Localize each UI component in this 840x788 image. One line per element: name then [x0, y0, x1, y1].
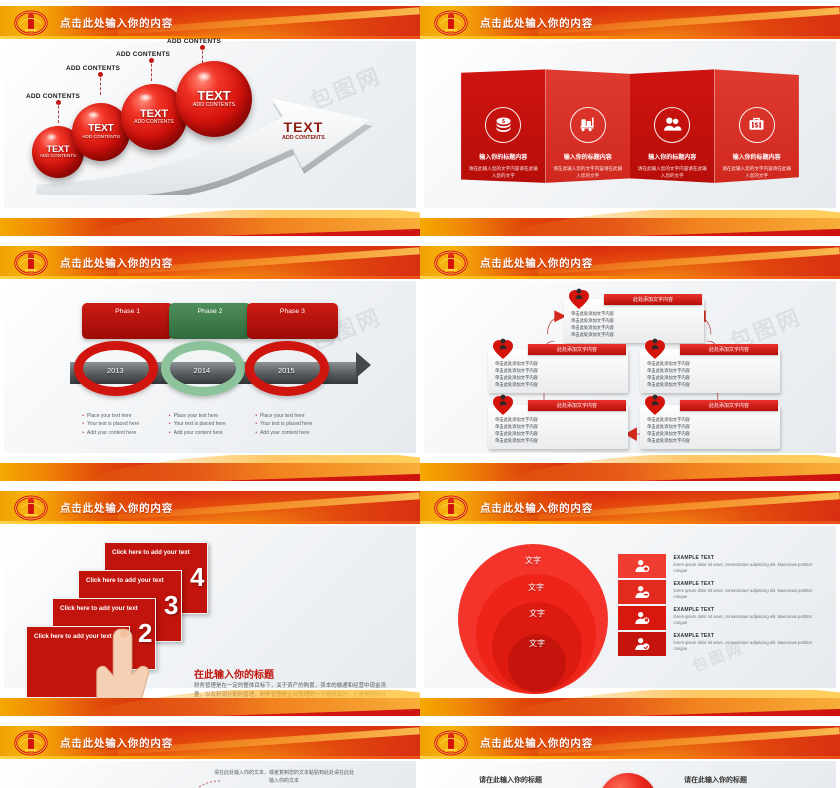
tax-bureau-emblem-icon: [14, 495, 48, 521]
node-5-title: 此处添加文字内容: [680, 400, 778, 411]
sphere-caption-3: ADD CONTENTS: [116, 51, 170, 58]
slide-4-header: 点击此处输入你的内容: [420, 246, 840, 279]
example-text-2: EXAMPLE TEXT lorem ipsum dolor sit amet,…: [666, 580, 823, 601]
node-1-title: 此处添加文字内容: [604, 294, 702, 305]
example-body: lorem ipsum dolor sit amet, consectetuer…: [673, 614, 823, 627]
panel-4-title: 输入你的标题内容: [733, 152, 781, 161]
example-text-3: EXAMPLE TEXT lorem ipsum dolor sit amet,…: [666, 606, 823, 627]
tax-bureau-emblem-icon: [434, 250, 468, 276]
slide-5-header-title: 点击此处输入你的内容: [60, 500, 173, 515]
cycle-node-1[interactable]: 此处添加文字内容 单击此处添加文字内容 单击此处添加文字内容 单击此处添加文字内…: [564, 299, 704, 343]
sphere-2-title: TEXT: [88, 124, 114, 135]
year-label-2: 2014: [194, 366, 211, 375]
slide-5[interactable]: 点击此处输入你的内容 Click here to add your text 4…: [0, 485, 420, 720]
slide-7-body: 请在此处输入你的文本，或者复制您的文本粘贴到此处请在此处输入你的文本: [4, 761, 416, 788]
node-line: 单击此处添加文字内容: [495, 424, 559, 430]
node-2-body: 单击此处添加文字内容 单击此处添加文字内容 单击此处添加文字内容 单击此处添加文…: [493, 361, 623, 388]
tax-bureau-emblem-icon: [14, 730, 48, 756]
stack-number-4: 4: [190, 562, 204, 593]
slide-2-body: $ 输入你的标题内容 请在此输入您的文字内容请在此输入您的文字: [424, 41, 836, 208]
node-3-body: 单击此处添加文字内容 单击此处添加文字内容 单击此处添加文字内容 单击此处添加文…: [645, 361, 775, 388]
list-item: Place your text here: [169, 412, 226, 421]
timeline-arrowhead: [356, 352, 371, 378]
example-body: lorem ipsum dolor sit amet, consectetuer…: [673, 562, 823, 575]
cycle-node-3[interactable]: 此处添加文字内容 单击此处添加文字内容 单击此处添加文字内容 单击此处添加文字内…: [640, 349, 780, 393]
arrow-label: TEXT ADD CONTENTS: [282, 119, 325, 141]
caption-dot-2: [98, 72, 103, 77]
sphere-4-title: TEXT: [197, 89, 230, 103]
stack-card-3-label: Click here to add your text: [86, 577, 164, 584]
year-label-1: 2013: [107, 366, 124, 375]
user-check-icon: [618, 632, 667, 656]
slide-3-header: 点击此处输入你的内容: [0, 246, 420, 279]
slide-2-footer: [420, 210, 840, 236]
slide-7-text: 请在此处输入你的文本，或者复制您的文本粘贴到此处请在此处输入你的文本: [214, 769, 354, 785]
slide-4-body: 包图网 此处添加文字内容: [424, 281, 836, 453]
node-line: 单击此处添加文字内容: [647, 424, 711, 430]
phase-box-2[interactable]: Phase 2: [169, 303, 251, 339]
slide-grid: 点击此处输入你的内容 包图网 ADD CONTENTS: [0, 0, 840, 788]
slide-6[interactable]: 点击此处输入你的内容 包图网 文字 文字 文字 文字: [420, 485, 840, 720]
nested-circle-4[interactable]: 文字: [508, 634, 566, 692]
list-item: Your text is placed here: [169, 420, 226, 429]
list-item: Your text is placed here: [82, 420, 139, 429]
slide-1-body: 包图网 ADD CONTENTS ADD CONTENTS: [4, 41, 416, 208]
user-add-icon: [618, 554, 667, 578]
folded-panel-group: $ 输入你的标题内容 请在此输入您的文字内容请在此输入您的文字: [461, 69, 799, 183]
sphere-3-sub: ADD CONTENTS: [134, 120, 173, 125]
example-row-4[interactable]: EXAMPLE TEXT lorem ipsum dolor sit amet,…: [618, 632, 824, 656]
node-line: 单击此处添加文字内容: [647, 368, 711, 374]
example-text-1: EXAMPLE TEXT lorem ipsum dolor sit amet,…: [666, 554, 823, 575]
example-body: lorem ipsum dolor sit amet, consectetuer…: [673, 588, 823, 601]
panel-1-body: 请在此输入您的文字内容请在此输入您的文字: [461, 165, 545, 180]
slide-8-title-left: 请在此输入你的标题: [479, 775, 542, 785]
header-underline: [0, 521, 420, 524]
tax-bureau-emblem-icon: [434, 730, 468, 756]
slide-1-header-title: 点击此处输入你的内容: [60, 15, 173, 30]
example-row-3[interactable]: EXAMPLE TEXT lorem ipsum dolor sit amet,…: [618, 606, 824, 630]
node-line: 单击此处添加文字内容: [495, 375, 559, 381]
node-line: 单击此处添加文字内容: [495, 431, 559, 437]
list-item: Place your text here: [255, 412, 312, 421]
caption-dot-1: [56, 100, 61, 105]
slide-3-body: 包图网 Phase 1 Phase 2 Phase 3 2013 2014 20…: [4, 281, 416, 453]
panel-3-body: 请在此输入您的文字内容请在此输入您的文字: [630, 165, 714, 180]
node-3-title: 此处添加文字内容: [680, 344, 778, 355]
panel-3-title: 输入你的标题内容: [648, 152, 696, 161]
header-underline: [420, 36, 840, 39]
node-line: 单击此处添加文字内容: [647, 361, 711, 367]
person-pin-icon: [567, 287, 591, 311]
node-line: 单击此处添加文字内容: [647, 375, 711, 381]
stack-card-2-label: Click here to add your text: [60, 605, 138, 612]
arrow-label-sub: ADD CONTENTS: [282, 135, 325, 141]
list-item: Add your content here: [169, 429, 226, 438]
node-line: 单击此处添加文字内容: [571, 311, 635, 317]
slide-7-header-title: 点击此处输入你的内容: [60, 735, 173, 750]
list-item: Place your text here: [82, 412, 139, 421]
node-line: 单击此处添加文字内容: [647, 417, 711, 423]
slide-1-header: 点击此处输入你的内容: [0, 6, 420, 39]
list-item: Add your content here: [82, 429, 139, 438]
node-1-body: 单击此处添加文字内容 单击此处添加文字内容 单击此处添加文字内容 单击此处添加文…: [569, 311, 699, 338]
slide-8-header-title: 点击此处输入你的内容: [480, 735, 593, 750]
example-body: lorem ipsum dolor sit amet, consectetuer…: [673, 640, 823, 653]
sphere-4-sub: ADD CONTENTS: [193, 103, 236, 109]
slide-6-header: 点击此处输入你的内容: [420, 491, 840, 524]
person-pin-icon: [491, 393, 515, 417]
slide-2-header: 点击此处输入你的内容: [420, 6, 840, 39]
panel-2-title: 输入你的标题内容: [564, 152, 612, 161]
sphere-caption-2: ADD CONTENTS: [66, 65, 120, 72]
node-line: 单击此处添加文字内容: [495, 382, 559, 388]
panel-2-body: 请在此输入您的文字内容请在此输入您的文字: [546, 165, 630, 180]
node-4-title: 此处添加文字内容: [528, 400, 626, 411]
person-pin-icon: [643, 337, 667, 361]
svg-text:$: $: [755, 122, 759, 129]
year-label-3: 2015: [278, 366, 295, 375]
node-2-title: 此处添加文字内容: [528, 344, 626, 355]
phase-box-3[interactable]: Phase 3: [247, 303, 338, 339]
node-line: 单击此处添加文字内容: [647, 438, 711, 444]
slide-6-footer: [420, 690, 840, 716]
tax-bureau-emblem-icon: [434, 495, 468, 521]
user-remove-icon: [618, 580, 667, 604]
slide-6-header-title: 点击此处输入你的内容: [480, 500, 593, 515]
example-rows: EXAMPLE TEXT lorem ipsum dolor sit amet,…: [618, 554, 824, 658]
svg-text:$: $: [502, 119, 505, 125]
slide-4-header-title: 点击此处输入你的内容: [480, 255, 593, 270]
header-underline: [0, 756, 420, 759]
header-underline: [420, 276, 840, 279]
luggage-cart-icon: [570, 107, 606, 143]
example-row-1[interactable]: EXAMPLE TEXT lorem ipsum dolor sit amet,…: [618, 554, 824, 578]
slide-8-header: 点击此处输入你的内容: [420, 726, 840, 759]
node-5-body: 单击此处添加文字内容 单击此处添加文字内容 单击此处添加文字内容 单击此处添加文…: [645, 417, 775, 444]
node-card: 此处添加文字内容 单击此处添加文字内容 单击此处添加文字内容 单击此处添加文字内…: [640, 349, 780, 393]
example-heading: EXAMPLE TEXT: [673, 555, 823, 561]
slide-8-title-right: 请在此输入你的标题: [684, 775, 747, 785]
node-line: 单击此处添加文字内容: [571, 318, 635, 324]
bullet-list-1: Place your text here Your text is placed…: [82, 412, 139, 438]
sphere-caption-1: ADD CONTENTS: [26, 93, 80, 100]
node-card: 此处添加文字内容 单击此处添加文字内容 单击此处添加文字内容 单击此处添加文字内…: [488, 405, 628, 449]
bullet-list-3: Place your text here Your text is placed…: [255, 412, 312, 438]
slide-2[interactable]: 点击此处输入你的内容 $ 输入你的标题内容 请在此输入您的文字内容请在此输入: [420, 0, 840, 240]
panel-3[interactable]: 输入你的标题内容 请在此输入您的文字内容请在此输入您的文字: [630, 69, 714, 183]
tax-bureau-emblem-icon: [14, 250, 48, 276]
node-card: 此处添加文字内容 单击此处添加文字内容 单击此处添加文字内容 单击此处添加文字内…: [564, 299, 704, 343]
bullet-list-2: Place your text here Your text is placed…: [169, 412, 226, 438]
node-line: 单击此处添加文字内容: [495, 368, 559, 374]
slide-3-header-title: 点击此处输入你的内容: [60, 255, 173, 270]
slide-5-body: Click here to add your text 4 Click here…: [4, 526, 416, 688]
panel-2[interactable]: 输入你的标题内容 请在此输入您的文字内容请在此输入您的文字: [546, 69, 630, 183]
slide-5-title: 在此输入你的标题: [194, 666, 274, 681]
slide-8-body: 请在此输入你的标题 请在此输入你的标题: [424, 761, 836, 788]
curved-pointer-icon: [184, 779, 224, 788]
stack-number-3: 3: [164, 590, 178, 621]
tax-bureau-emblem-icon: [14, 10, 48, 36]
arrow-label-title: TEXT: [282, 119, 325, 135]
user-delete-icon: [618, 606, 667, 630]
caption-dot-3: [149, 58, 154, 63]
list-item: Add your content here: [255, 429, 312, 438]
example-row-2[interactable]: EXAMPLE TEXT lorem ipsum dolor sit amet,…: [618, 580, 824, 604]
slide-7-header: 点击此处输入你的内容: [0, 726, 420, 759]
slide-4[interactable]: 点击此处输入你的内容 包图网 此处添加文字内容: [420, 240, 840, 485]
coins-icon: $: [485, 107, 521, 143]
slide-8-partial[interactable]: 点击此处输入你的内容 请在此输入你的标题 请在此输入你的标题: [420, 720, 840, 788]
person-pin-icon: [643, 393, 667, 417]
nested-circle-4-label: 文字: [529, 638, 545, 692]
example-text-4: EXAMPLE TEXT lorem ipsum dolor sit amet,…: [666, 632, 823, 653]
red-circle-decoration: [599, 773, 657, 788]
header-underline: [420, 521, 840, 524]
list-item: Your text is placed here: [255, 420, 312, 429]
person-pin-icon: [491, 337, 515, 361]
example-heading: EXAMPLE TEXT: [673, 633, 823, 639]
people-icon: [654, 107, 690, 143]
sphere-1-sub: ADD CONTENTS: [40, 154, 76, 159]
slide-1-footer: [0, 210, 420, 236]
node-line: 单击此处添加文字内容: [571, 325, 635, 331]
slide-6-body: 包图网 文字 文字 文字 文字: [424, 526, 836, 688]
node-card: 此处添加文字内容 单击此处添加文字内容 单击此处添加文字内容 单击此处添加文字内…: [640, 405, 780, 449]
slide-3-footer: [0, 455, 420, 481]
cycle-node-4[interactable]: 此处添加文字内容 单击此处添加文字内容 单击此处添加文字内容 单击此处添加文字内…: [488, 405, 628, 449]
panel-1[interactable]: $ 输入你的标题内容 请在此输入您的文字内容请在此输入您的文字: [461, 69, 545, 183]
slide-5-header: 点击此处输入你的内容: [0, 491, 420, 524]
slide-4-footer: [420, 455, 840, 481]
sphere-4[interactable]: TEXT ADD CONTENTS: [176, 61, 252, 137]
node-line: 单击此处添加文字内容: [571, 332, 635, 338]
stack-card-4-label: Click here to add your text: [112, 549, 190, 556]
tax-bureau-emblem-icon: [434, 10, 468, 36]
header-underline: [420, 756, 840, 759]
panel-4[interactable]: $ 输入你的标题内容 请在此输入您的文字内容请在此输入您的文字: [714, 69, 798, 183]
slide-7-partial[interactable]: 点击此处输入你的内容 请在此处输入你的文本，或者复制您的文本粘贴到此处请在此处输…: [0, 720, 420, 788]
node-4-body: 单击此处添加文字内容 单击此处添加文字内容 单击此处添加文字内容 单击此处添加文…: [493, 417, 623, 444]
slide-5-footer: [0, 690, 420, 716]
slide-2-header-title: 点击此处输入你的内容: [480, 15, 593, 30]
node-line: 单击此处添加文字内容: [495, 417, 559, 423]
node-card: 此处添加文字内容 单击此处添加文字内容 单击此处添加文字内容 单击此处添加文字内…: [488, 349, 628, 393]
phase-box-1[interactable]: Phase 1: [82, 303, 173, 339]
node-line: 单击此处添加文字内容: [495, 361, 559, 367]
cycle-node-2[interactable]: 此处添加文字内容 单击此处添加文字内容 单击此处添加文字内容 单击此处添加文字内…: [488, 349, 628, 393]
sphere-caption-4: ADD CONTENTS: [167, 38, 221, 45]
slide-1[interactable]: 点击此处输入你的内容 包图网 ADD CONTENTS: [0, 0, 420, 240]
caption-dot-4: [200, 45, 205, 50]
example-heading: EXAMPLE TEXT: [673, 581, 823, 587]
node-line: 单击此处添加文字内容: [647, 431, 711, 437]
slide-3[interactable]: 点击此处输入你的内容 包图网 Phase 1 Phase 2 Phase 3 2…: [0, 240, 420, 485]
cycle-node-5[interactable]: 此处添加文字内容 单击此处添加文字内容 单击此处添加文字内容 单击此处添加文字内…: [640, 405, 780, 449]
panel-1-title: 输入你的标题内容: [479, 152, 527, 161]
header-underline: [0, 276, 420, 279]
money-briefcase-icon: $: [739, 107, 775, 143]
example-heading: EXAMPLE TEXT: [673, 607, 823, 613]
sphere-2-sub: ADD CONTENTS: [82, 135, 120, 140]
node-line: 单击此处添加文字内容: [495, 438, 559, 444]
panel-4-body: 请在此输入您的文字内容请在此输入您的文字: [714, 165, 798, 180]
node-line: 单击此处添加文字内容: [647, 382, 711, 388]
